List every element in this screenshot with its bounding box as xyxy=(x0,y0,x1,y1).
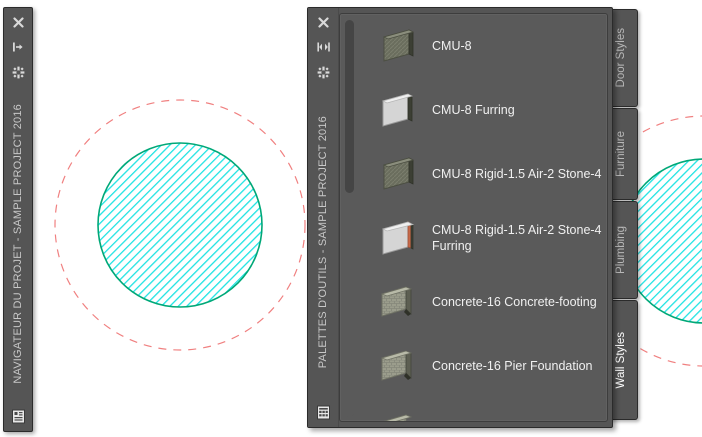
project-navigator-panel[interactable]: NAVIGATEUR DU PROJET - SAMPLE PROJECT 20… xyxy=(3,7,33,432)
tab-wall-styles-label: Wall Styles xyxy=(615,332,627,388)
list-item[interactable]: CMU-8 Rigid-1.5 Air-2 Stone-4 Furring xyxy=(357,206,607,270)
close-icon[interactable] xyxy=(312,12,334,32)
tool-palettes-title: PALETTES D'OUTILS - SAMPLE PROJECT 2016 xyxy=(308,82,338,402)
project-navigator-title-text: NAVIGATEUR DU PROJET - SAMPLE PROJECT 20… xyxy=(12,104,24,384)
list-item[interactable]: CMU-8 Furring xyxy=(357,78,607,142)
auto-hide-icon[interactable] xyxy=(312,37,334,57)
list-item[interactable]: CMU-8 Rigid-1.5 Air-2 Stone-4 xyxy=(357,142,607,206)
list-item-label: CMU-8 Rigid-1.5 Air-2 Stone-4 Furring xyxy=(432,222,607,254)
list-item[interactable] xyxy=(357,398,607,421)
project-navigator-titlebar-buttons xyxy=(7,8,29,82)
list-item-label: CMU-8 Furring xyxy=(432,102,515,118)
tool-palettes-panel[interactable]: PALETTES D'OUTILS - SAMPLE PROJECT 2016 xyxy=(307,7,613,428)
tool-palettes-titlebar: PALETTES D'OUTILS - SAMPLE PROJECT 2016 xyxy=(308,8,339,427)
tool-palettes-icon[interactable] xyxy=(312,402,334,422)
tab-plumbing-label: Plumbing xyxy=(615,226,627,274)
project-navigator-title: NAVIGATEUR DU PROJET - SAMPLE PROJECT 20… xyxy=(4,82,32,406)
list-item-label: CMU-8 Rigid-1.5 Air-2 Stone-4 xyxy=(432,166,602,182)
list-item[interactable]: CMU-8 xyxy=(357,14,607,78)
hatched-circle xyxy=(98,143,262,307)
tab-door-styles-label: Door Styles xyxy=(615,28,627,87)
wall-swatch-icon xyxy=(378,89,420,131)
tool-list[interactable]: CMU-8 CMU-8 Furring xyxy=(357,14,607,421)
tab-furniture-label: Furniture xyxy=(615,131,627,177)
wall-swatch-icon xyxy=(378,153,420,195)
auto-hide-icon[interactable] xyxy=(7,37,29,57)
wall-swatch-icon xyxy=(378,345,420,387)
tool-palettes-content[interactable]: CMU-8 CMU-8 Furring xyxy=(339,13,608,422)
wall-swatch-icon xyxy=(378,281,420,323)
list-item[interactable]: Concrete-16 Concrete-footing xyxy=(357,270,607,334)
list-item-label: Concrete-16 Pier Foundation xyxy=(432,358,593,374)
wall-swatch-icon xyxy=(378,25,420,67)
scrollbar-thumb[interactable] xyxy=(345,20,354,193)
list-item-label: Concrete-16 Concrete-footing xyxy=(432,294,597,310)
vertical-scrollbar[interactable] xyxy=(345,20,354,417)
list-item[interactable]: Concrete-16 Pier Foundation xyxy=(357,334,607,398)
list-item-label: CMU-8 xyxy=(432,38,472,54)
tool-palettes-titlebar-buttons xyxy=(312,8,334,82)
wall-swatch-icon xyxy=(378,409,420,421)
close-icon[interactable] xyxy=(7,12,29,32)
properties-icon[interactable] xyxy=(7,62,29,82)
tool-palettes-title-text: PALETTES D'OUTILS - SAMPLE PROJECT 2016 xyxy=(317,116,329,368)
wall-swatch-icon xyxy=(378,217,420,259)
properties-icon[interactable] xyxy=(312,62,334,82)
project-navigator-icon[interactable] xyxy=(7,406,29,426)
